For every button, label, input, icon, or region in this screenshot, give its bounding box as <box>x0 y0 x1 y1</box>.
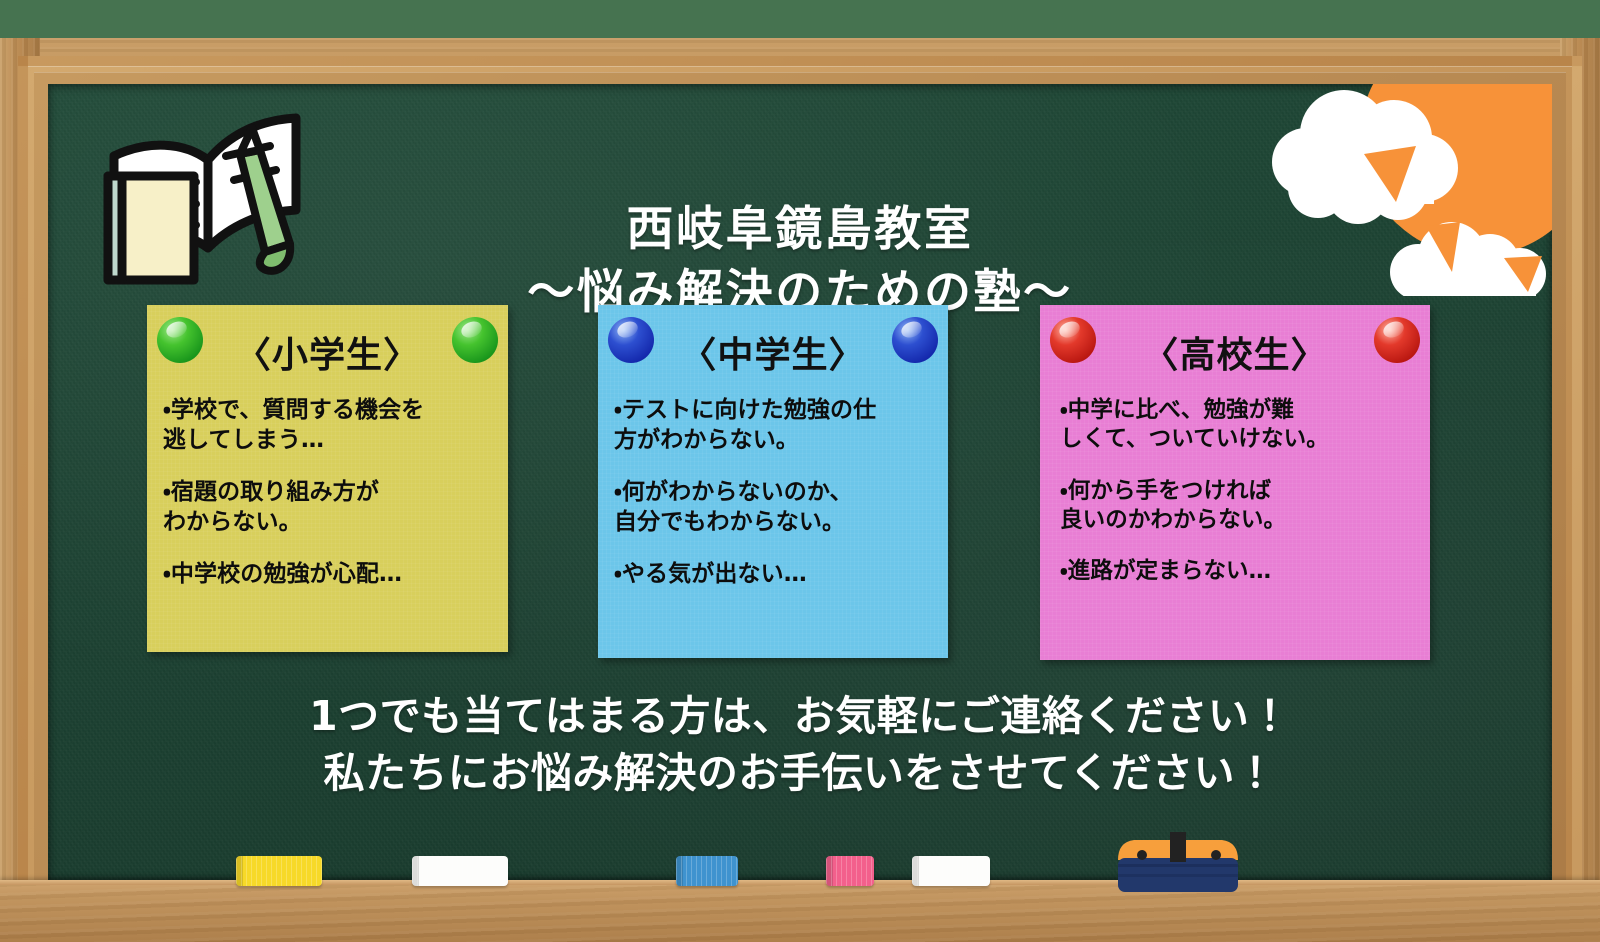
blue-pin-right <box>892 317 938 363</box>
card-elementary[interactable]: 〈小学生〉 ・学校で、質問する機会を 逃してしまう… ・宿題の取り組み方が わか… <box>147 305 508 652</box>
card-list-junior-high: ・テストに向けた勉強の仕 方がわからない。 ・何がわからないのか、 自分でもわか… <box>598 378 948 589</box>
list-item: ・学校で、質問する機会を 逃してしまう… <box>163 396 508 456</box>
call-to-action-message: 1つでも当てはまる方は、お気軽にご連絡ください！ 私たちにお悩み解決のお手伝いを… <box>48 688 1552 801</box>
list-item: ・宿題の取り組み方が わからない。 <box>163 478 508 538</box>
list-item: ・やる気が出ない… <box>614 560 948 590</box>
school-backpack-icon <box>1108 830 1248 892</box>
chalk-tray <box>0 880 1600 942</box>
pin-highlight <box>1057 318 1082 340</box>
red-pin-left <box>1050 317 1096 363</box>
poster-stage: 西岐阜鏡島教室 〜悩み解決のための塾〜 〈小学生〉 ・学校で、質問する機会を 逃… <box>0 0 1600 942</box>
card-junior-high[interactable]: 〈中学生〉 ・テストに向けた勉強の仕 方がわからない。 ・何がわからないのか、 … <box>598 305 948 658</box>
message-line-1: 1つでも当てはまる方は、お気軽にご連絡ください！ <box>48 688 1552 745</box>
pin-highlight <box>1381 318 1406 340</box>
pin-highlight <box>459 318 484 340</box>
list-item: ・テストに向けた勉強の仕 方がわからない。 <box>614 396 948 456</box>
list-item: ・中学に比べ、勉強が難 しくて、ついていけない。 <box>1060 396 1430 455</box>
chalk-pink <box>826 856 874 886</box>
list-item: ・何がわからないのか、 自分でもわからない。 <box>614 478 948 538</box>
pin-highlight <box>615 318 640 340</box>
pin-highlight <box>164 318 189 340</box>
list-item: ・何から手をつければ 良いのかわからない。 <box>1060 477 1430 536</box>
red-pin-right <box>1374 317 1420 363</box>
message-line-2: 私たちにお悩み解決のお手伝いをさせてください！ <box>48 745 1552 802</box>
blue-pin-left <box>608 317 654 363</box>
pin-highlight <box>899 318 924 340</box>
card-title-high-school: 〈高校生〉 <box>1040 305 1430 378</box>
chalk-yellow <box>236 856 322 886</box>
chalk-white-2 <box>912 856 990 886</box>
card-list-elementary: ・学校で、質問する機会を 逃してしまう… ・宿題の取り組み方が わからない。 ・… <box>147 378 508 589</box>
green-pin-right <box>452 317 498 363</box>
blackboard-surface: 西岐阜鏡島教室 〜悩み解決のための塾〜 〈小学生〉 ・学校で、質問する機会を 逃… <box>48 84 1552 880</box>
list-item: ・中学校の勉強が心配… <box>163 560 508 590</box>
chalk-white-1 <box>412 856 508 886</box>
card-list-high-school: ・中学に比べ、勉強が難 しくて、ついていけない。 ・何から手をつければ 良いのか… <box>1040 378 1430 586</box>
green-pin-left <box>157 317 203 363</box>
card-high-school[interactable]: 〈高校生〉 ・中学に比べ、勉強が難 しくて、ついていけない。 ・何から手をつけれ… <box>1040 305 1430 660</box>
chalk-blue <box>676 856 738 886</box>
list-item: ・進路が定まらない… <box>1060 557 1430 586</box>
